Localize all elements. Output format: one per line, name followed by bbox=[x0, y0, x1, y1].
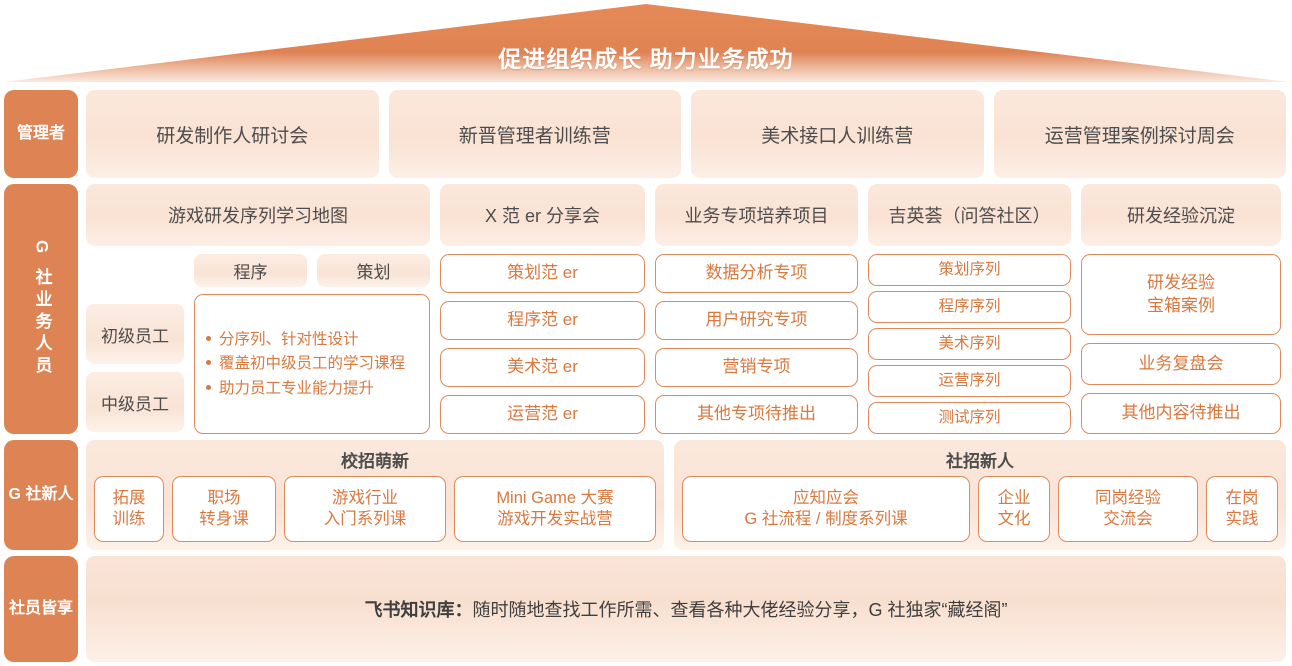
benefits-box: 分序列、针对性设计 覆盖初中级员工的学习课程 助力员工专业能力提升 bbox=[194, 294, 430, 434]
pill-campus-1[interactable]: 拓展 训练 bbox=[94, 476, 164, 542]
tag-program[interactable]: 程序 bbox=[194, 254, 307, 287]
pill-campus-2-l1: 职场 bbox=[199, 488, 249, 509]
row-label-business-staff: G 社业务人员 bbox=[4, 184, 78, 434]
pill-sequence-1[interactable]: 策划序列 bbox=[868, 254, 1071, 286]
row-label-managers: 管理者 bbox=[4, 90, 78, 178]
colhead-rd-experience[interactable]: 研发经验沉淀 bbox=[1081, 184, 1281, 246]
pill-sequence-5[interactable]: 测试序列 bbox=[868, 402, 1071, 434]
pill-social-3-l2: 交流会 bbox=[1095, 509, 1161, 530]
colhead-qa-community[interactable]: 吉英荟（问答社区） bbox=[868, 184, 1071, 246]
col-rd-experience: 研发经验沉淀 研发经验 宝箱案例 业务复盘会 其他内容待推出 bbox=[1081, 184, 1281, 434]
benefit-item-1: 分序列、针对性设计 bbox=[219, 328, 419, 351]
benefit-item-2: 覆盖初中级员工的学习课程 bbox=[219, 352, 419, 375]
col-learning-map: 游戏研发序列学习地图 初级员工 中级员工 程序 策划 分序列、针对性设计 bbox=[86, 184, 430, 434]
pill-special-3[interactable]: 营销专项 bbox=[655, 348, 858, 387]
row-all-members: 社员皆享 飞书知识库：随时随地查找工作所需、查看各种大佬经验分享，G 社独家“藏… bbox=[0, 556, 1292, 662]
tag-design[interactable]: 策划 bbox=[317, 254, 430, 287]
pill-sequence-2[interactable]: 程序序列 bbox=[868, 291, 1071, 323]
pill-special-1[interactable]: 数据分析专项 bbox=[655, 254, 858, 293]
pill-more-coming[interactable]: 其他内容待推出 bbox=[1081, 393, 1281, 435]
row-business-staff: G 社业务人员 游戏研发序列学习地图 初级员工 中级员工 程序 策划 bbox=[0, 184, 1292, 434]
pill-special-4[interactable]: 其他专项待推出 bbox=[655, 395, 858, 434]
pill-social-2-l2: 文化 bbox=[998, 509, 1031, 530]
pill-campus-3[interactable]: 游戏行业 入门系列课 bbox=[284, 476, 446, 542]
pill-campus-2[interactable]: 职场 转身课 bbox=[172, 476, 276, 542]
pill-social-1-l1: 应知应会 bbox=[744, 488, 907, 509]
pill-sequence-4[interactable]: 运营序列 bbox=[868, 365, 1071, 397]
pill-business-review[interactable]: 业务复盘会 bbox=[1081, 343, 1281, 385]
row-managers: 管理者 研发制作人研讨会 新晋管理者训练营 美术接口人训练营 运营管理案例探讨周… bbox=[0, 90, 1292, 178]
level-mid[interactable]: 中级员工 bbox=[86, 372, 184, 432]
pill-special-2[interactable]: 用户研究专项 bbox=[655, 301, 858, 340]
row-label-all-members: 社员皆享 bbox=[4, 556, 78, 662]
benefit-item-3: 助力员工专业能力提升 bbox=[219, 377, 419, 400]
pill-campus-3-l1: 游戏行业 bbox=[324, 488, 407, 509]
pill-campus-4[interactable]: Mini Game 大赛 游戏开发实战营 bbox=[454, 476, 656, 542]
group-campus-hires: 校招萌新 拓展 训练 职场 转身课 游戏行业 入门系列课 bbox=[86, 440, 664, 550]
pill-x-fan-er-4[interactable]: 运营范 er bbox=[440, 395, 645, 434]
col-special-programs: 业务专项培养项目 数据分析专项 用户研究专项 营销专项 其他专项待推出 bbox=[655, 184, 858, 434]
pill-campus-2-l2: 转身课 bbox=[199, 509, 249, 530]
pill-rd-treasure-line2: 宝箱案例 bbox=[1147, 295, 1215, 317]
card-manager-1[interactable]: 研发制作人研讨会 bbox=[86, 90, 379, 178]
group-title-campus: 校招萌新 bbox=[94, 444, 656, 476]
pill-social-3-l1: 同岗经验 bbox=[1095, 488, 1161, 509]
colhead-x-fan-er[interactable]: X 范 er 分享会 bbox=[440, 184, 645, 246]
pill-social-1-l2: G 社流程 / 制度系列课 bbox=[744, 509, 907, 530]
card-manager-4[interactable]: 运营管理案例探讨周会 bbox=[994, 90, 1287, 178]
pill-campus-4-l1: Mini Game 大赛 bbox=[496, 488, 613, 509]
pill-campus-3-l2: 入门系列课 bbox=[324, 509, 407, 530]
row-newcomers: G 社新人 校招萌新 拓展 训练 职场 转身课 游戏行业 bbox=[0, 440, 1292, 550]
pill-social-1[interactable]: 应知应会 G 社流程 / 制度系列课 bbox=[682, 476, 970, 542]
group-social-hires: 社招新人 应知应会 G 社流程 / 制度系列课 企业 文化 同岗经验 交流会 bbox=[674, 440, 1286, 550]
knowledge-base-banner[interactable]: 飞书知识库：随时随地查找工作所需、查看各种大佬经验分享，G 社独家“藏经阁” bbox=[86, 556, 1286, 662]
knowledge-base-text: 随时随地查找工作所需、查看各种大佬经验分享，G 社独家“藏经阁” bbox=[473, 600, 1008, 620]
pill-rd-treasure-case[interactable]: 研发经验 宝箱案例 bbox=[1081, 254, 1281, 335]
knowledge-base-label: 飞书知识库： bbox=[365, 600, 473, 620]
col-qa-community: 吉英荟（问答社区） 策划序列 程序序列 美术序列 运营序列 测试序列 bbox=[868, 184, 1071, 434]
pill-social-2-l1: 企业 bbox=[998, 488, 1031, 509]
pill-x-fan-er-1[interactable]: 策划范 er bbox=[440, 254, 645, 293]
roof-banner: 促进组织成长 助力业务成功 bbox=[0, 0, 1292, 88]
card-manager-2[interactable]: 新晋管理者训练营 bbox=[389, 90, 682, 178]
colhead-special-programs[interactable]: 业务专项培养项目 bbox=[655, 184, 858, 246]
pill-rd-treasure-line1: 研发经验 bbox=[1147, 272, 1215, 294]
pill-social-4-l2: 实践 bbox=[1226, 509, 1259, 530]
colhead-learning-map[interactable]: 游戏研发序列学习地图 bbox=[86, 184, 430, 246]
level-junior[interactable]: 初级员工 bbox=[86, 304, 184, 364]
group-title-social: 社招新人 bbox=[682, 444, 1278, 476]
row-label-newcomers: G 社新人 bbox=[4, 440, 78, 550]
pill-campus-1-l2: 训练 bbox=[113, 509, 146, 530]
col-x-fan-er: X 范 er 分享会 策划范 er 程序范 er 美术范 er 运营范 er bbox=[440, 184, 645, 434]
pill-campus-1-l1: 拓展 bbox=[113, 488, 146, 509]
pill-social-4[interactable]: 在岗 实践 bbox=[1206, 476, 1278, 542]
pill-social-3[interactable]: 同岗经验 交流会 bbox=[1058, 476, 1198, 542]
roof-title: 促进组织成长 助力业务成功 bbox=[0, 40, 1292, 74]
pill-social-4-l1: 在岗 bbox=[1226, 488, 1259, 509]
pill-campus-4-l2: 游戏开发实战营 bbox=[496, 509, 613, 530]
card-manager-3[interactable]: 美术接口人训练营 bbox=[691, 90, 984, 178]
pill-x-fan-er-2[interactable]: 程序范 er bbox=[440, 301, 645, 340]
pill-social-2[interactable]: 企业 文化 bbox=[978, 476, 1050, 542]
pill-x-fan-er-3[interactable]: 美术范 er bbox=[440, 348, 645, 387]
pill-sequence-3[interactable]: 美术序列 bbox=[868, 328, 1071, 360]
